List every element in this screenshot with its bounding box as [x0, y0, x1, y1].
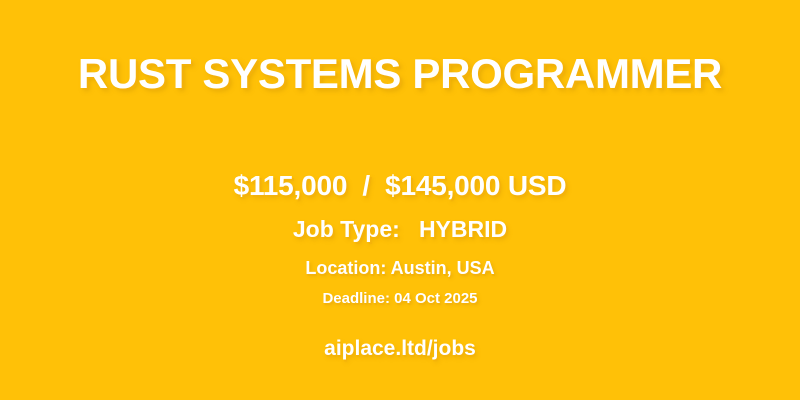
job-type: Job Type: HYBRID [0, 218, 800, 241]
page-title: RUST SYSTEMS PROGRAMMER [0, 53, 800, 95]
jobs-url-link[interactable]: aiplace.ltd/jobs [0, 338, 800, 359]
application-deadline: Deadline: 04 Oct 2025 [0, 291, 800, 306]
job-location: Location: Austin, USA [0, 259, 800, 277]
salary-range: $115,000 / $145,000 USD [0, 172, 800, 200]
job-posting-card: RUST SYSTEMS PROGRAMMER $115,000 / $145,… [0, 0, 800, 400]
